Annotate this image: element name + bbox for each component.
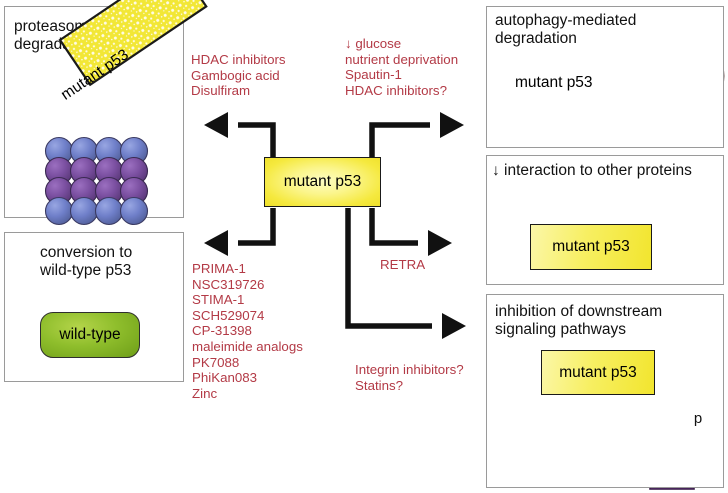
- arrowhead-to-conversion: [204, 230, 228, 256]
- panel-proteasome-title: proteasome degradation: [14, 18, 154, 54]
- panel-downstream-title: inhibition of downstream signaling pathw…: [495, 303, 720, 339]
- phospho-label: p: [690, 410, 706, 427]
- central-mutant-p53-node[interactable]: mutant p53: [264, 157, 381, 207]
- arrowhead-to-proteasome: [204, 112, 228, 138]
- label-proteasome-drugs: HDAC inhibitors Gambogic acid Disulfiram: [191, 52, 341, 99]
- arrowhead-to-retra: [428, 230, 452, 256]
- label-autophagy-triggers: ↓ glucose nutrient deprivation Spautin-1…: [345, 36, 485, 98]
- interaction-mutant-p53-node[interactable]: mutant p53: [530, 224, 652, 270]
- wildtype-p53-node[interactable]: wild-type: [40, 312, 140, 358]
- panel-interaction-title: ↓ interaction to other proteins: [492, 162, 724, 180]
- panel-autophagy-title: autophagy-mediated degradation: [495, 12, 720, 48]
- label-retra: RETRA: [380, 257, 470, 273]
- downstream-mutant-p53-node[interactable]: mutant p53: [541, 350, 655, 395]
- arrowhead-to-autophagy: [440, 112, 464, 138]
- panel-conversion-title: conversion to wild-type p53: [40, 244, 180, 280]
- label-downstream-drugs: Integrin inhibitors? Statins?: [355, 362, 490, 393]
- autophagy-substrate-label: mutant p53: [515, 74, 593, 92]
- arrowhead-to-downstream: [442, 313, 466, 339]
- label-conversion-drugs: PRIMA-1 NSC319726 STIMA-1 SCH529074 CP-3…: [192, 261, 337, 401]
